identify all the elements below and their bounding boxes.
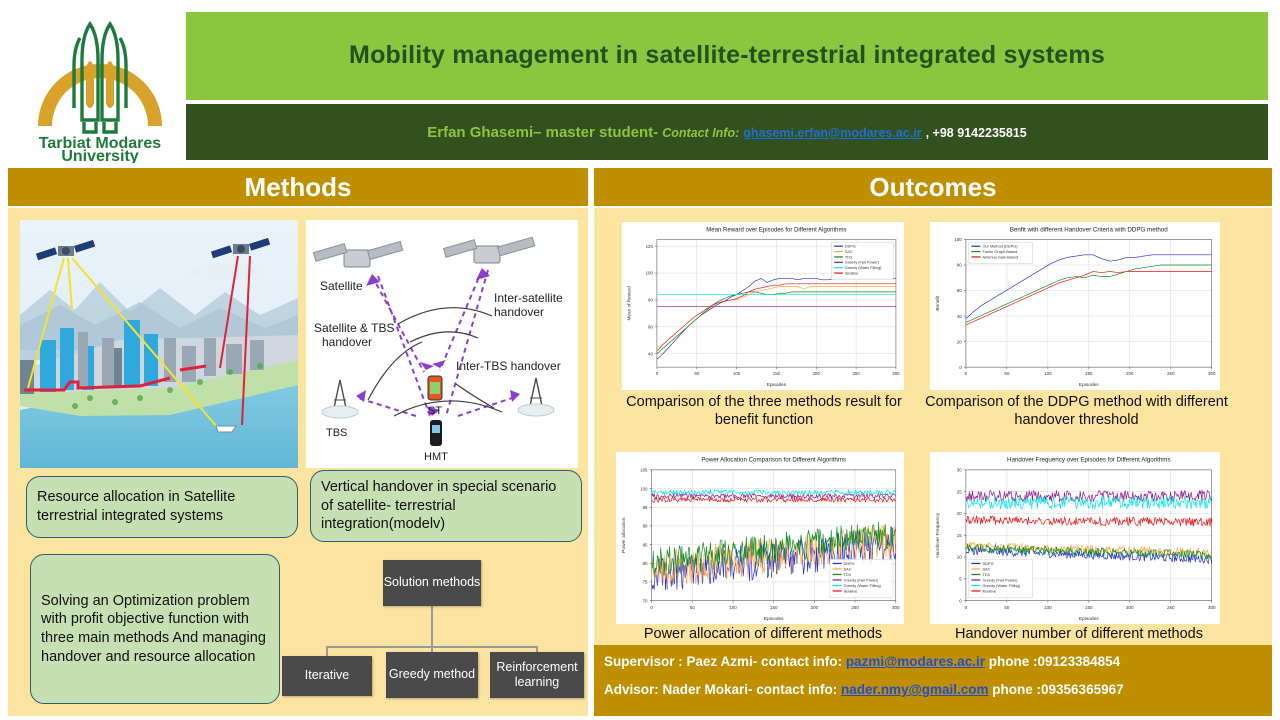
svg-text:100: 100 xyxy=(646,271,654,276)
advisor-email-link[interactable]: nader.nmy@gmail.com xyxy=(841,682,988,697)
author-name: Erfan Ghasemi– master student- xyxy=(427,124,658,141)
poster-header: Tarbiat Modares University Mobility mana… xyxy=(0,0,1280,165)
advisor-phone: phone :09356365967 xyxy=(992,682,1123,697)
svg-text:25: 25 xyxy=(957,489,962,494)
svg-text:150: 150 xyxy=(1085,605,1093,610)
poster-title-bar: Mobility management in satellite-terrest… xyxy=(186,12,1268,100)
svg-text:100: 100 xyxy=(1044,605,1052,610)
svg-text:200: 200 xyxy=(1126,605,1134,610)
svg-text:50: 50 xyxy=(694,371,699,376)
caption-chart-1: Comparison of the three methods result f… xyxy=(614,394,914,429)
svg-text:200: 200 xyxy=(1126,371,1134,376)
svg-text:150: 150 xyxy=(770,605,778,610)
svg-text:Greedy (Fair Power): Greedy (Fair Power) xyxy=(844,578,879,582)
svg-text:80: 80 xyxy=(957,263,963,268)
label-st: ST xyxy=(428,405,442,417)
logo-icon: Tarbiat Modares University xyxy=(20,8,180,163)
chart-handover-frequency: Handover Frequency over Episodes for Dif… xyxy=(930,452,1220,624)
svg-text:Iterative: Iterative xyxy=(982,589,996,593)
svg-text:Power Allocation Comparison fo: Power Allocation Comparison for Differen… xyxy=(701,457,846,464)
svg-text:SAC: SAC xyxy=(845,250,853,254)
outcomes-section-header: Outcomes xyxy=(594,168,1272,206)
chart-card-handover-frequency: Handover Frequency over Episodes for Dif… xyxy=(930,452,1220,624)
svg-text:40: 40 xyxy=(957,314,963,319)
box-resource-allocation: Resource allocation in Satellite terrest… xyxy=(26,476,298,538)
svg-text:90: 90 xyxy=(643,524,648,529)
svg-text:Greedy (Fair Power): Greedy (Fair Power) xyxy=(845,261,880,265)
box-vertical-handover: Vertical handover in special scenario of… xyxy=(310,470,582,542)
advisor-label: Advisor: Nader Mokari- contact info: xyxy=(604,682,837,697)
handover-diagram: Satellite Inter-satellite handover Satel… xyxy=(306,220,578,468)
svg-text:Mean of Reward: Mean of Reward xyxy=(627,286,632,321)
svg-text:Episodes: Episodes xyxy=(1079,616,1099,622)
hmt-device xyxy=(430,420,442,446)
svg-text:95: 95 xyxy=(643,505,648,510)
author-email-link[interactable]: ghasemi.erfan@modares.ac.ir xyxy=(743,126,921,140)
city-scene-svg xyxy=(20,220,298,468)
svg-text:300: 300 xyxy=(1208,605,1216,610)
svg-text:Episodes: Episodes xyxy=(767,382,787,387)
svg-text:Handover Frequency over Episod: Handover Frequency over Episodes for Dif… xyxy=(1007,457,1171,464)
author-bar: Erfan Ghasemi– master student- Contact I… xyxy=(186,104,1268,160)
svg-text:Greedy (Fair Power): Greedy (Fair Power) xyxy=(982,578,1018,582)
box-vertical-text: Vertical handover in special scenario of… xyxy=(321,479,556,532)
svg-text:100: 100 xyxy=(640,486,648,491)
svg-text:TD3: TD3 xyxy=(844,573,851,577)
methods-section-header: Methods xyxy=(8,168,588,206)
flow-node-greedy: Greedy method xyxy=(386,652,478,698)
svg-text:TD3: TD3 xyxy=(845,255,852,259)
label-satellite: Satellite xyxy=(320,279,363,293)
st-device xyxy=(428,376,442,400)
svg-text:DDPG: DDPG xyxy=(982,562,993,566)
svg-text:250: 250 xyxy=(1167,605,1175,610)
svg-text:300: 300 xyxy=(1208,371,1216,376)
chart-card-benefit-handover: Benfit with different Handover Criteria … xyxy=(930,222,1220,390)
svg-text:Episodes: Episodes xyxy=(1079,382,1099,388)
svg-text:80: 80 xyxy=(648,298,653,303)
flow-node-reinforcement: Reinforcement learning xyxy=(490,652,584,698)
contact-label: Contact Info: xyxy=(662,126,739,140)
poster-footer: Supervisor : Paez Azmi- contact info: pa… xyxy=(594,645,1272,716)
svg-text:SAC: SAC xyxy=(982,567,990,571)
svg-text:60: 60 xyxy=(957,288,963,293)
caption-chart-3: Power allocation of different methods xyxy=(608,626,918,644)
svg-text:15: 15 xyxy=(957,533,962,538)
flow-node-solution-methods: Solution methods xyxy=(383,560,481,606)
svg-text:Benfit with different Handover: Benfit with different Handover Criteria … xyxy=(1010,226,1169,233)
chart-power-allocation: Power Allocation Comparison for Differen… xyxy=(616,452,904,624)
svg-text:Iterative: Iterative xyxy=(844,589,858,593)
solution-methods-flowchart: Solution methods Iterative Greedy method… xyxy=(278,556,588,704)
page-title: Mobility management in satellite-terrest… xyxy=(349,42,1105,70)
svg-text:250: 250 xyxy=(851,605,859,610)
svg-text:80: 80 xyxy=(643,561,648,566)
label-satellite-tbs-2: handover xyxy=(322,335,372,349)
svg-text:Power allocation: Power allocation xyxy=(621,517,627,553)
svg-text:Episodes: Episodes xyxy=(764,616,784,622)
flow-connector-vertical xyxy=(431,606,433,648)
svg-text:120: 120 xyxy=(646,244,654,249)
svg-text:DDPG: DDPG xyxy=(845,245,856,249)
outcomes-title: Outcomes xyxy=(869,172,996,203)
svg-text:Greedy (Water Filling): Greedy (Water Filling) xyxy=(982,584,1020,588)
svg-text:100: 100 xyxy=(954,237,962,242)
svg-text:Handover Frequency: Handover Frequency xyxy=(935,512,941,557)
supervisor-email-link[interactable]: pazmi@modares.ac.ir xyxy=(846,654,985,669)
svg-text:50: 50 xyxy=(690,605,695,610)
handover-diagram-svg: Satellite Inter-satellite handover Satel… xyxy=(306,220,578,468)
svg-text:105: 105 xyxy=(640,468,648,473)
label-inter-tbs: Inter-TBS handover xyxy=(456,359,561,373)
svg-text:300: 300 xyxy=(892,605,900,610)
svg-text:Factor Graph-Based: Factor Graph-Based xyxy=(982,250,1017,254)
outcomes-panel: Mean Reward over Episodes for Different … xyxy=(594,208,1272,716)
svg-text:60: 60 xyxy=(648,325,653,330)
supervisor-phone: phone :09123384854 xyxy=(989,654,1120,669)
svg-text:200: 200 xyxy=(811,605,819,610)
svg-text:20: 20 xyxy=(957,339,963,344)
satellite-city-illustration xyxy=(20,220,298,468)
caption-chart-2: Comparison of the DDPG method with diffe… xyxy=(924,394,1229,429)
label-inter-satellite-1: Inter-satellite xyxy=(494,291,563,305)
box-solving-optimization: Solving an Optimization problem with pro… xyxy=(30,554,280,704)
svg-text:100: 100 xyxy=(733,371,741,376)
svg-text:Mean Reward over Episodes for: Mean Reward over Episodes for Different … xyxy=(706,227,846,233)
label-tbs: TBS xyxy=(326,427,347,439)
author-line: Erfan Ghasemi– master student- Contact I… xyxy=(427,124,1026,141)
footer-advisor-row: Advisor: Nader Mokari- contact info: nad… xyxy=(594,669,1272,697)
caption-chart-4: Handover number of different methods xyxy=(924,626,1234,644)
svg-text:50: 50 xyxy=(1004,371,1010,376)
author-phone: , +98 9142235815 xyxy=(926,126,1027,140)
svg-text:DDPG: DDPG xyxy=(844,562,855,566)
svg-text:250: 250 xyxy=(1167,371,1175,376)
svg-text:Greedy (Water Filling): Greedy (Water Filling) xyxy=(845,266,882,270)
svg-text:20: 20 xyxy=(957,511,962,516)
methods-panel: Satellite Inter-satellite handover Satel… xyxy=(8,208,588,716)
label-hmt: HMT xyxy=(424,451,448,463)
svg-text:250: 250 xyxy=(852,371,860,376)
chart-card-mean-reward: Mean Reward over Episodes for Different … xyxy=(622,222,904,390)
svg-text:Greedy (Water Filling): Greedy (Water Filling) xyxy=(844,584,882,588)
svg-text:30: 30 xyxy=(957,468,962,473)
chart-benefit-handover: Benfit with different Handover Criteria … xyxy=(930,222,1220,390)
svg-text:Our Method (DDPG): Our Method (DDPG) xyxy=(982,245,1018,249)
svg-text:300: 300 xyxy=(892,371,900,376)
box-resource-text: Resource allocation in Satellite terrest… xyxy=(37,488,287,525)
label-inter-satellite-2: handover xyxy=(494,305,544,319)
svg-text:100: 100 xyxy=(1044,371,1052,376)
svg-text:100: 100 xyxy=(729,605,737,610)
svg-text:Antenna Gain-Based: Antenna Gain-Based xyxy=(982,255,1018,259)
svg-text:10: 10 xyxy=(957,555,962,560)
svg-text:150: 150 xyxy=(773,371,781,376)
box-solving-text: Solving an Optimization problem with pro… xyxy=(41,592,269,666)
chart-mean-reward: Mean Reward over Episodes for Different … xyxy=(622,222,904,390)
svg-text:Benefit: Benefit xyxy=(935,295,941,310)
svg-text:70: 70 xyxy=(643,598,648,603)
svg-text:150: 150 xyxy=(1085,371,1093,376)
svg-text:50: 50 xyxy=(1004,605,1009,610)
svg-text:75: 75 xyxy=(643,580,648,585)
chart-card-power-allocation: Power Allocation Comparison for Differen… xyxy=(616,452,904,624)
label-satellite-tbs-1: Satellite & TBS xyxy=(314,321,394,335)
footer-supervisor-row: Supervisor : Paez Azmi- contact info: pa… xyxy=(594,645,1272,669)
university-logo: Tarbiat Modares University xyxy=(20,8,180,163)
supervisor-label: Supervisor : Paez Azmi- contact info: xyxy=(604,654,842,669)
svg-text:40: 40 xyxy=(648,351,653,356)
svg-text:200: 200 xyxy=(813,371,821,376)
flow-node-iterative: Iterative xyxy=(282,656,372,696)
svg-text:85: 85 xyxy=(643,542,648,547)
svg-text:SAC: SAC xyxy=(844,567,852,571)
logo-line2: University xyxy=(61,148,138,163)
svg-text:TD3: TD3 xyxy=(982,573,989,577)
svg-text:Iterative: Iterative xyxy=(845,271,858,275)
methods-title: Methods xyxy=(245,172,352,203)
